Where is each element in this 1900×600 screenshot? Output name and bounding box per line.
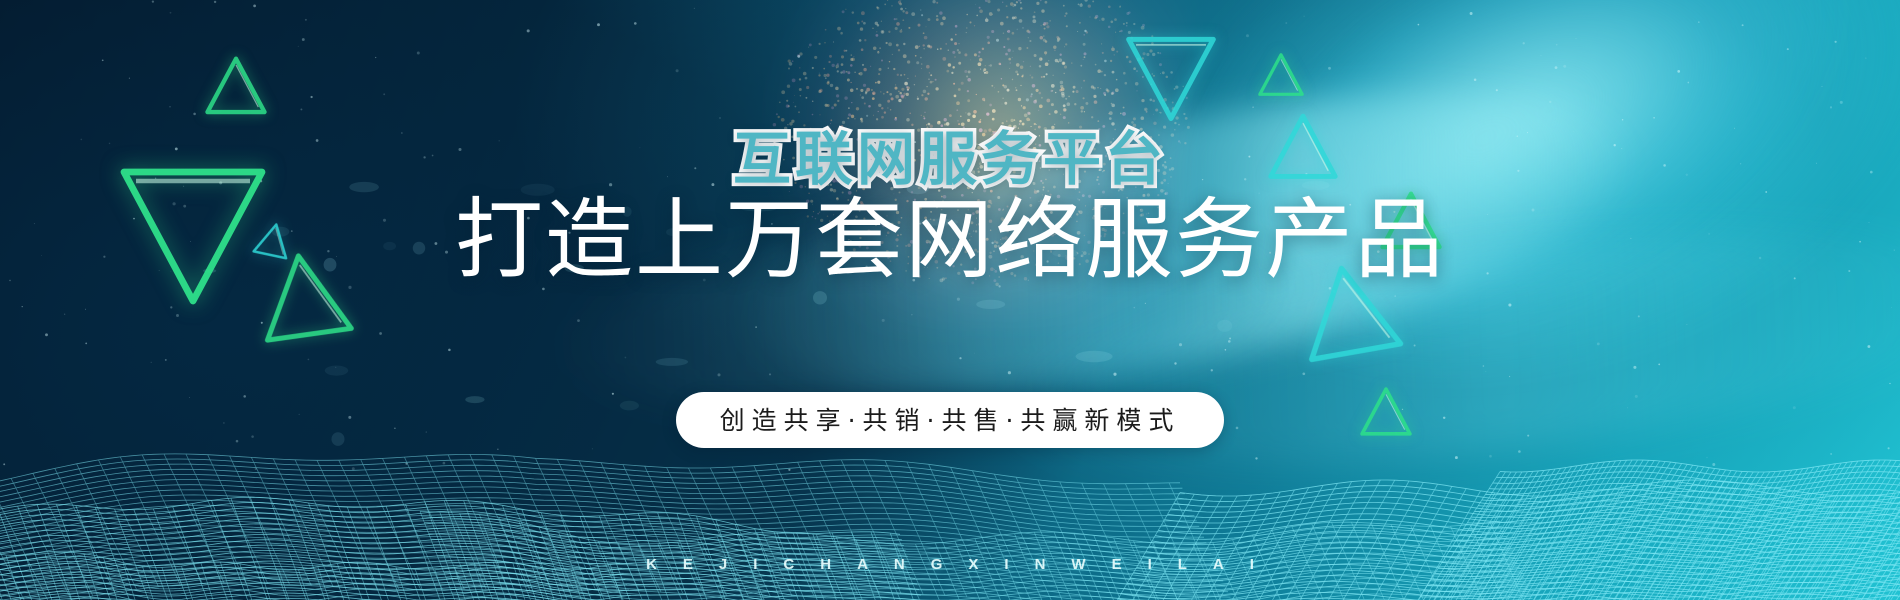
banner-subtitle-pill: 创造共享·共销·共售·共赢新模式 [676, 392, 1225, 448]
banner-content: 互联网服务平台 打造上万套网络服务产品 创造共享·共销·共售·共赢新模式 KEJ… [0, 0, 1900, 600]
hero-banner: 互联网服务平台 打造上万套网络服务产品 创造共享·共销·共售·共赢新模式 KEJ… [0, 0, 1900, 600]
banner-pinyin-footer: KEJICHANGXINWEILAI [0, 556, 1900, 573]
banner-subtitle-wrapper: 创造共享·共销·共售·共赢新模式 [0, 392, 1900, 448]
banner-eyebrow-title: 互联网服务平台 [0, 112, 1900, 196]
banner-headline: 打造上万套网络服务产品 [0, 196, 1900, 284]
